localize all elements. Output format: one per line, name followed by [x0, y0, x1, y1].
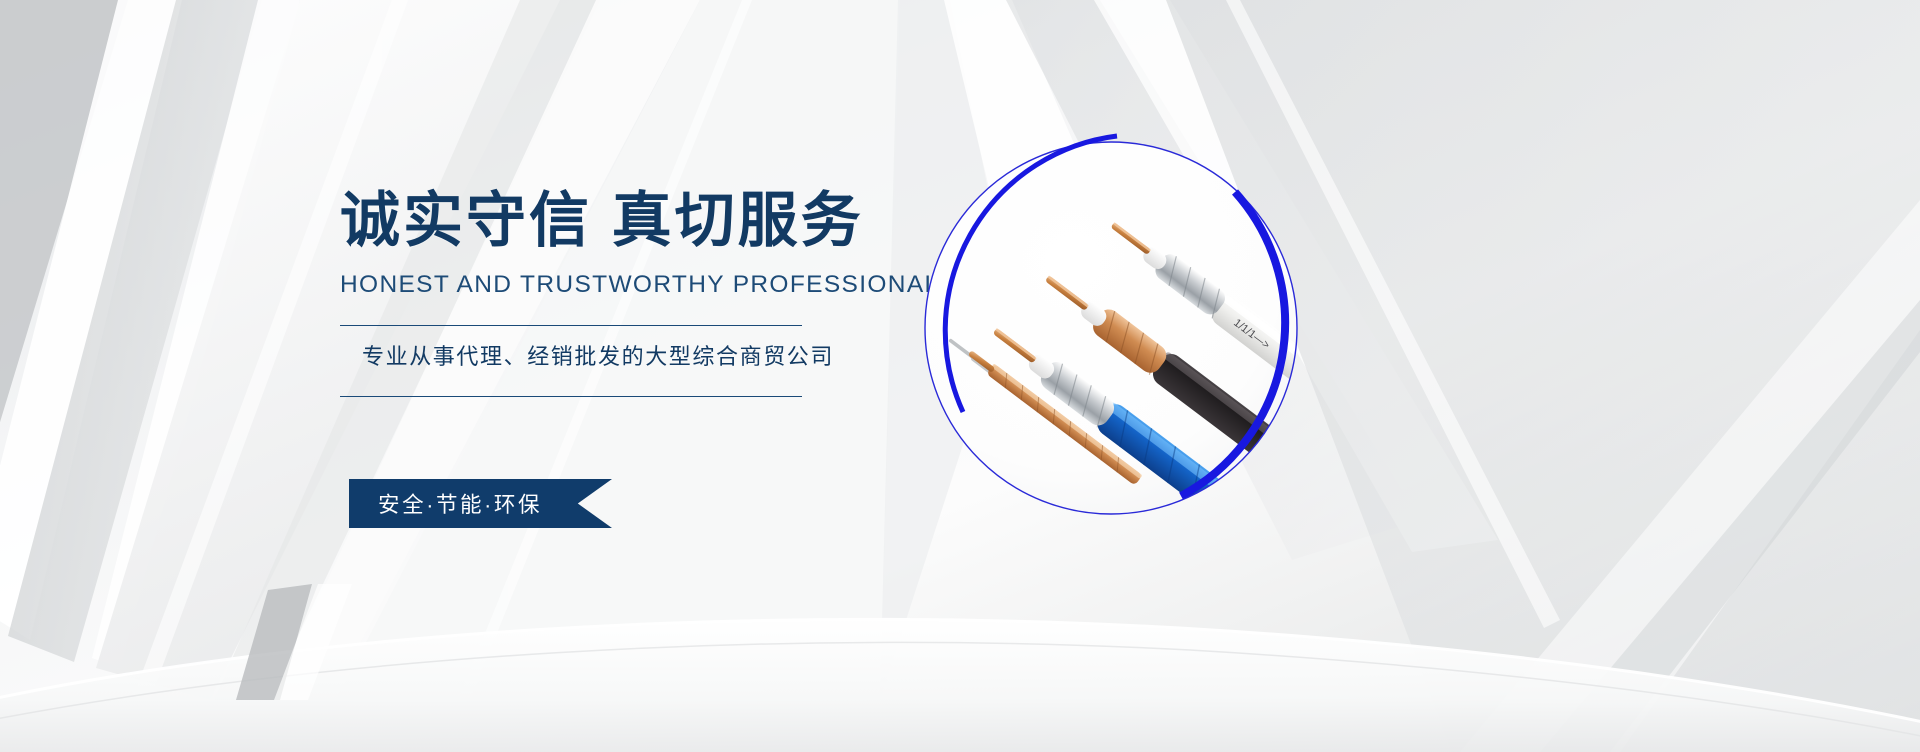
bg-left-slats [0, 0, 300, 668]
product-medallion: 1/1/1—> · · · [905, 122, 1317, 534]
bg-bottom-slats [236, 584, 352, 700]
bg-bottom-sweep [0, 619, 1920, 752]
page-subtitle: HONEST AND TRUSTWORTHY PROFESSIONAL SERV… [340, 271, 900, 299]
tagline-text: 安全·节能·环保 [349, 488, 542, 519]
tagline-ribbon: 安全·节能·环保 [349, 479, 612, 528]
page-title: 诚实守信 真切服务 [340, 186, 900, 255]
page-description: 专业从事代理、经销批发的大型综合商贸公司 [340, 326, 900, 371]
hero-text-block: 诚实守信 真切服务 HONEST AND TRUSTWORTHY PROFESS… [340, 186, 900, 397]
divider-bottom [340, 396, 802, 397]
hero-banner: 诚实守信 真切服务 HONEST AND TRUSTWORTHY PROFESS… [0, 0, 1920, 752]
